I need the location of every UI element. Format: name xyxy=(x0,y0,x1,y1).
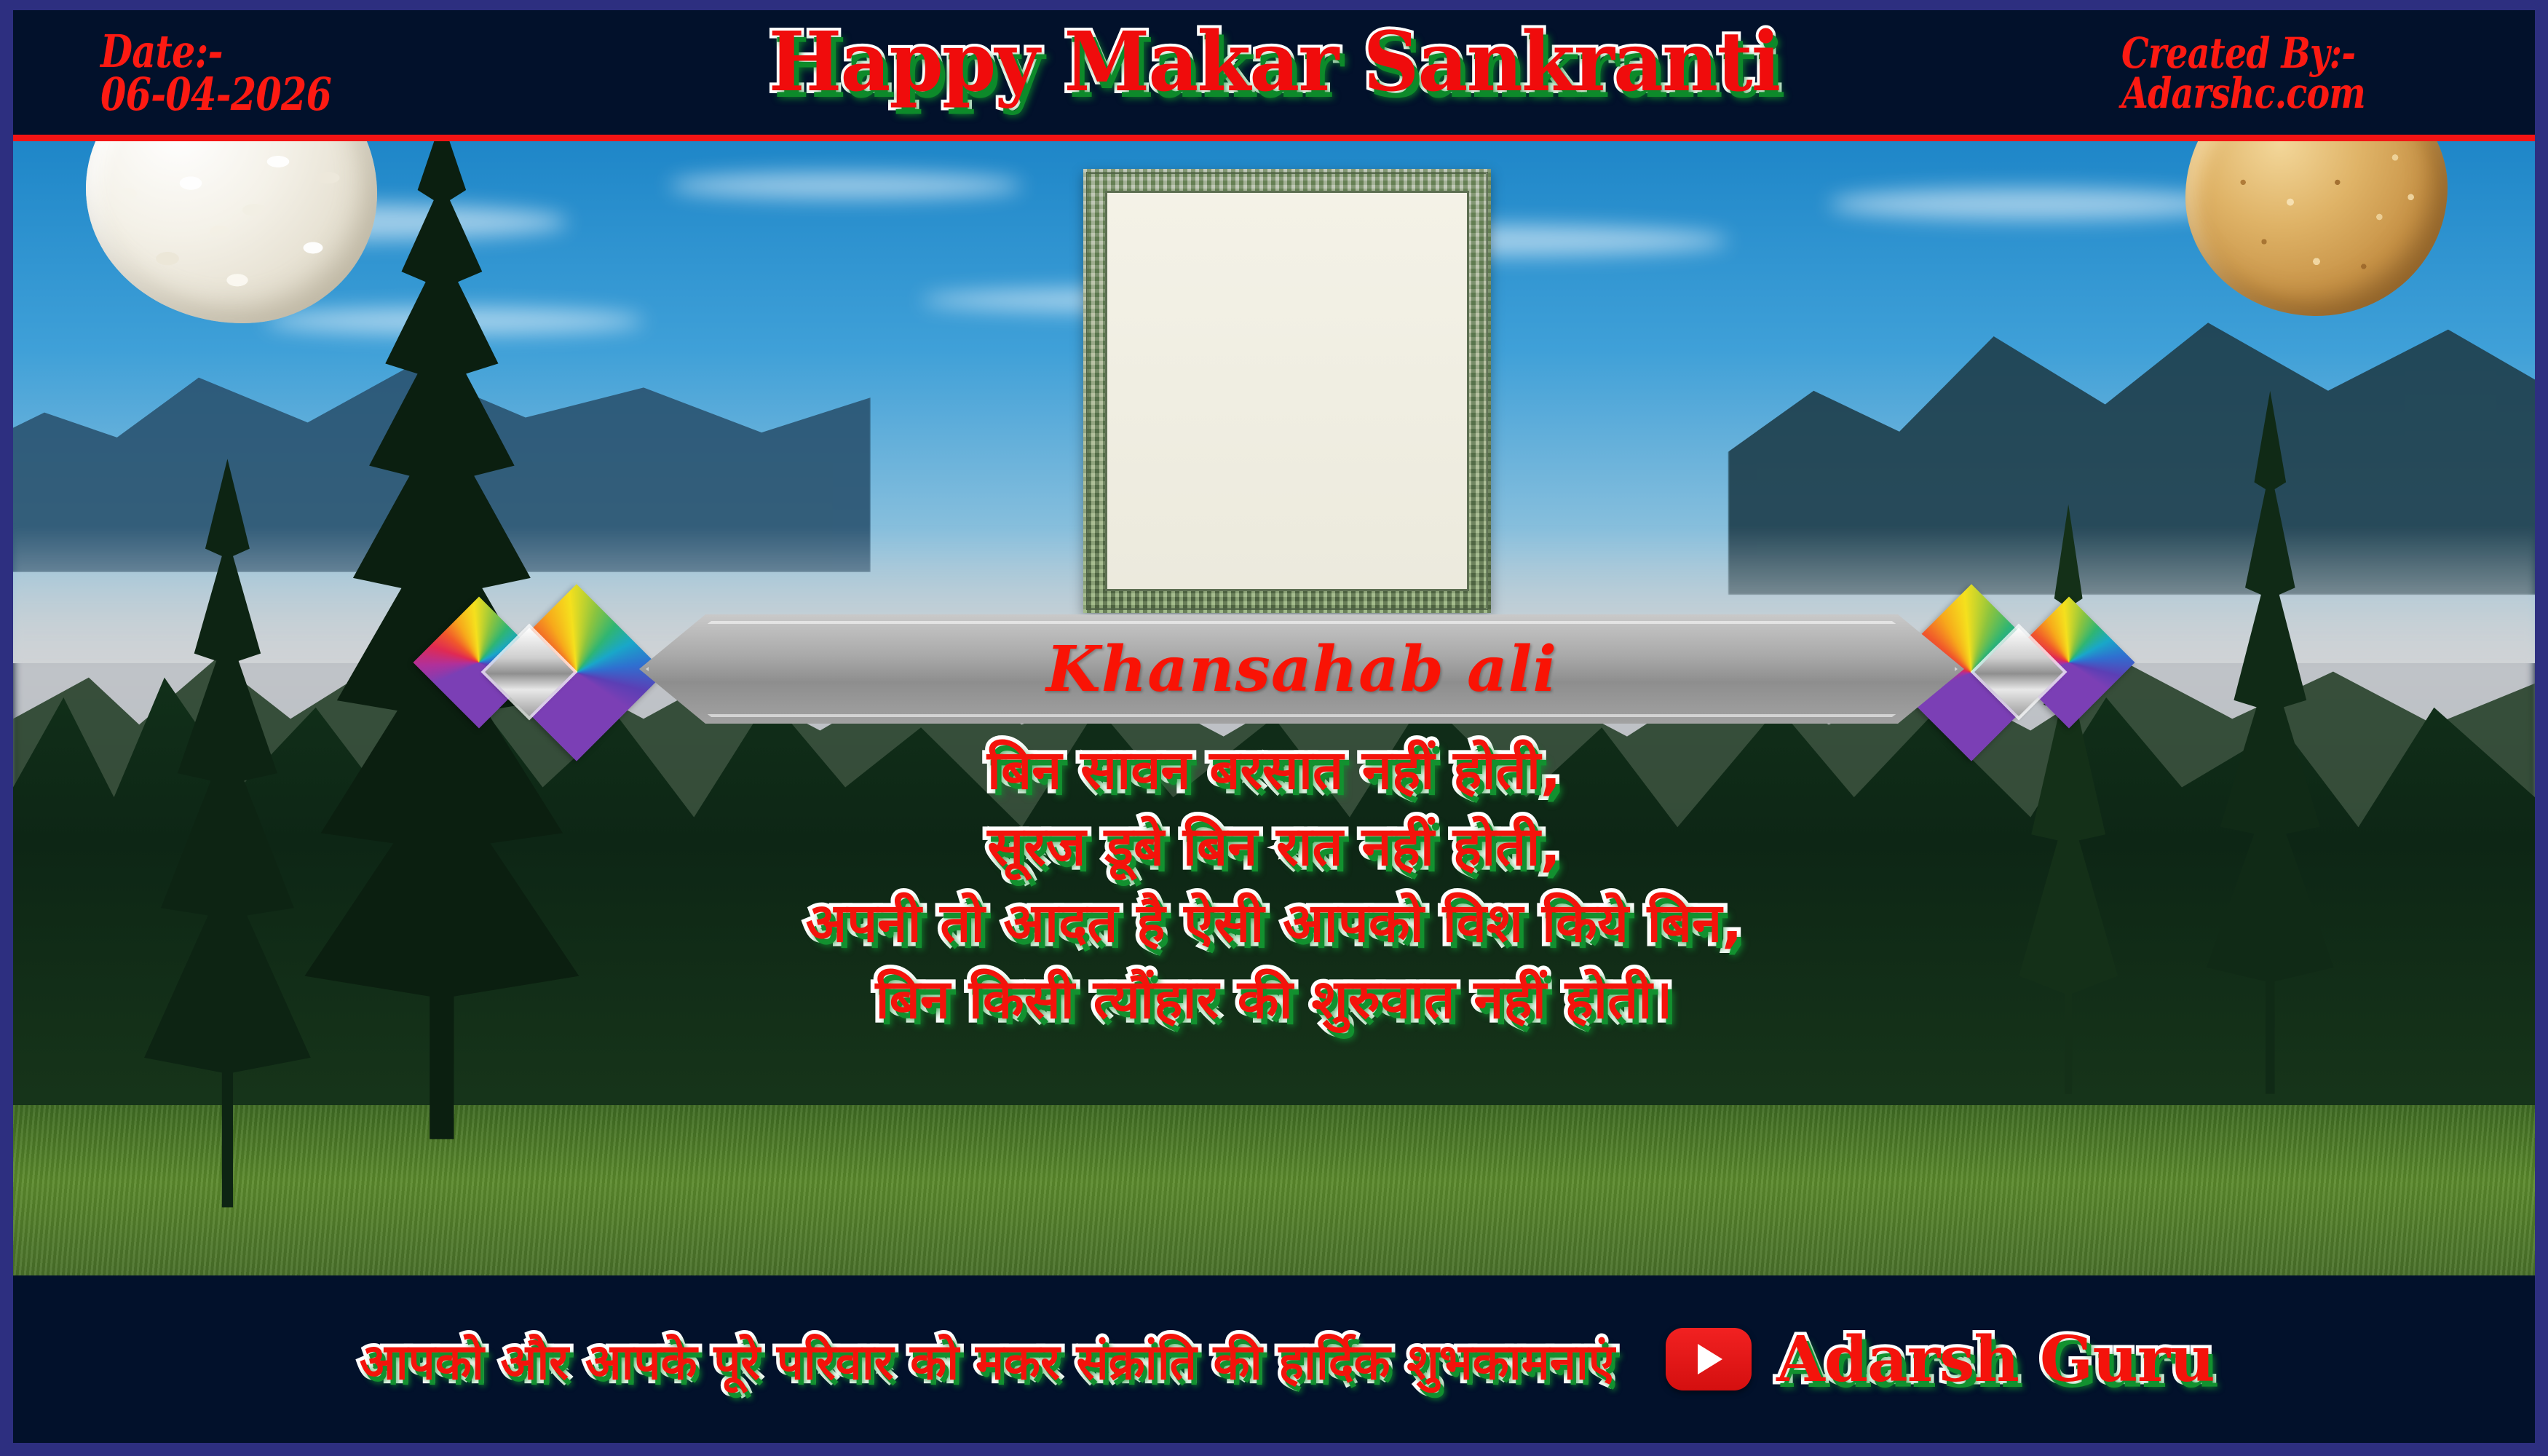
poem-line-4: बिन किसी त्यौंहार की शुरुवात नहीं होती। xyxy=(13,967,2535,1033)
photo-slot[interactable] xyxy=(1105,191,1469,591)
poem-line-1: बिन सावन बरसात नहीं होती, xyxy=(13,737,2535,804)
channel-name: Adarsh Guru xyxy=(1776,1323,2215,1396)
photo-frame[interactable] xyxy=(1083,169,1491,613)
poem-line-2: सूरज डूबे बिन रात नहीं होती, xyxy=(13,814,2535,880)
created-by-block: Created By:- Adarshc.com xyxy=(2121,10,2418,137)
grass-foreground xyxy=(13,1105,2535,1275)
created-by-label: Created By:- xyxy=(2121,33,2355,74)
poem-block: बिन सावन बरसात नहीं होती, सूरज डूबे बिन … xyxy=(13,727,2535,1043)
page-title: Happy Makar Sankranti xyxy=(76,15,2472,110)
youtube-play-icon[interactable] xyxy=(1666,1328,1752,1390)
name-ribbon: Khansahab ali xyxy=(639,614,1964,724)
poster-inner: Khansahab ali बिन सावन बरसात नहीं होती, … xyxy=(13,10,2535,1443)
greeting-poster: Khansahab ali बिन सावन बरसात नहीं होती, … xyxy=(0,0,2548,1456)
footer-greeting: आपको और आपके पूरे परिवार को मकर संक्रांत… xyxy=(360,1326,1615,1393)
poem-line-3: अपनी तो आदत है ऐसी आपको विश किये बिन, xyxy=(13,890,2535,957)
poster-footer: आपको और आपके पूरे परिवार को मकर संक्रांत… xyxy=(13,1275,2535,1443)
person-name: Khansahab ali xyxy=(639,614,1964,724)
created-by-value: Adarshc.com xyxy=(2121,74,2365,114)
poster-header: Date:- 06-04-2026 Happy Makar Sankranti … xyxy=(13,10,2535,141)
